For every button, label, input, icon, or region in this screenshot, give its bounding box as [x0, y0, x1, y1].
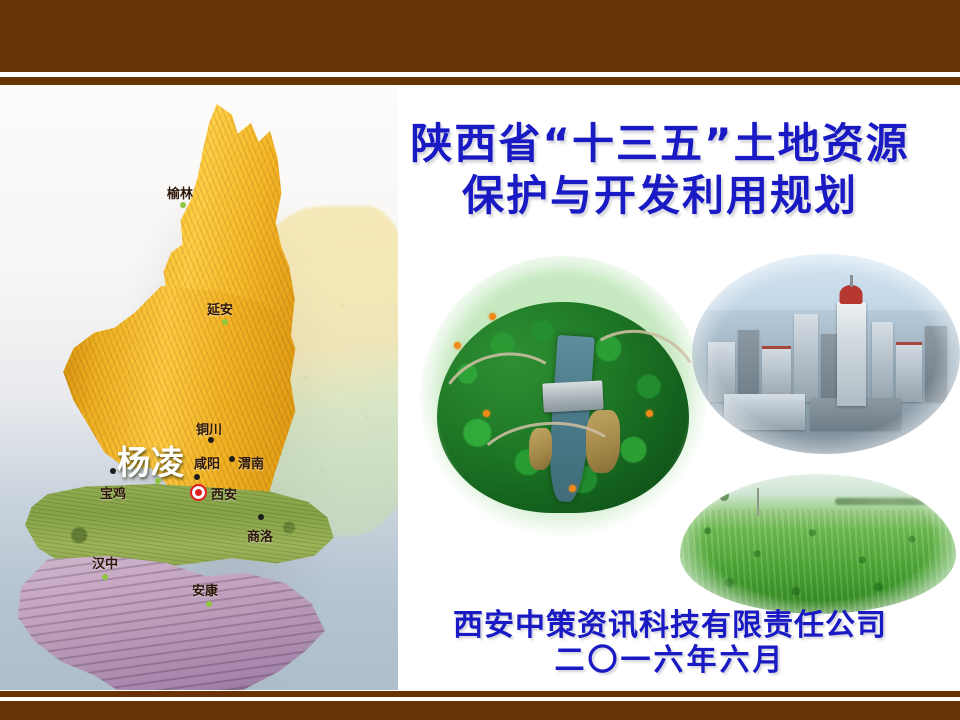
title-line-1: 陕西省“十三五”土地资源 — [360, 118, 960, 170]
building-8 — [925, 326, 946, 402]
city-label-ankang: 安康 — [192, 580, 218, 599]
low-rise-block-left — [724, 394, 804, 430]
city-label-shangluo: 商洛 — [247, 526, 273, 545]
slide-footer: 西安中策资讯科技有限责任公司 二〇一六年六月 — [400, 608, 940, 679]
building-cluster — [692, 254, 960, 454]
distant-treeline — [835, 498, 945, 505]
city-dot-xian — [190, 484, 207, 501]
building-5 — [821, 334, 837, 402]
city-label-yangling: 杨凌 — [117, 436, 185, 484]
city-label-xian: 西安 — [211, 484, 237, 503]
top-brown-rule — [0, 77, 960, 85]
city-dot-hanzhong — [102, 574, 108, 580]
crop-field — [680, 510, 956, 614]
building-7 — [896, 342, 923, 402]
title-line-2: 保护与开发利用规划 — [360, 170, 960, 222]
city-dot-shangluo — [258, 514, 264, 520]
city-dot-baoji — [110, 468, 116, 474]
shaanxi-relief-map-photo: 榆林 延安 铜川 杨凌 咸阳 渭南 宝鸡 西安 商洛 汉中 安康 — [0, 86, 398, 690]
city-label-tongchuan: 铜川 — [196, 419, 222, 438]
flower-accent-2 — [454, 342, 461, 349]
city-dot-weinan — [229, 456, 235, 462]
landmark-tower — [837, 302, 866, 406]
city-dot-ankang — [206, 601, 212, 607]
building-2 — [738, 330, 759, 402]
footer-date: 二〇一六年六月 — [400, 643, 940, 678]
photo-mountain-inner — [420, 256, 706, 542]
bottom-brown-band — [0, 701, 960, 720]
slide-title: 陕西省“十三五”土地资源 保护与开发利用规划 — [360, 118, 960, 222]
city-label-xianyang: 咸阳 — [194, 453, 220, 472]
photo-farmland — [680, 474, 956, 614]
relief-region-qinba-mountains — [8, 556, 338, 690]
city-dot-tongchuan — [208, 437, 214, 443]
city-label-yulin: 榆林 — [167, 183, 193, 202]
photo-city-skyline — [692, 254, 960, 454]
building-6 — [872, 322, 893, 402]
top-brown-band — [0, 0, 960, 72]
building-4 — [794, 314, 818, 402]
photo-mountain-reservoir — [420, 256, 706, 542]
city-dot-xianyang — [194, 474, 200, 480]
city-dot-yangling — [155, 478, 161, 484]
city-dot-yulin — [180, 202, 186, 208]
flower-accent-1 — [489, 313, 496, 320]
city-label-weinan: 渭南 — [238, 453, 264, 472]
relief-model — [0, 86, 398, 690]
footer-organization: 西安中策资讯科技有限责任公司 — [400, 608, 940, 643]
building-1 — [708, 342, 735, 402]
presentation-cover-slide: 榆林 延安 铜川 杨凌 咸阳 渭南 宝鸡 西安 商洛 汉中 安康 陕西省“十三五… — [0, 0, 960, 720]
city-label-baoji: 宝鸡 — [100, 483, 126, 502]
city-label-yanan: 延安 — [207, 299, 233, 318]
bottom-brown-rule — [0, 691, 960, 697]
roadside-tree — [719, 489, 729, 501]
city-label-hanzhong: 汉中 — [92, 553, 118, 572]
flower-accent-4 — [569, 485, 576, 492]
city-dot-yanan — [222, 319, 228, 325]
